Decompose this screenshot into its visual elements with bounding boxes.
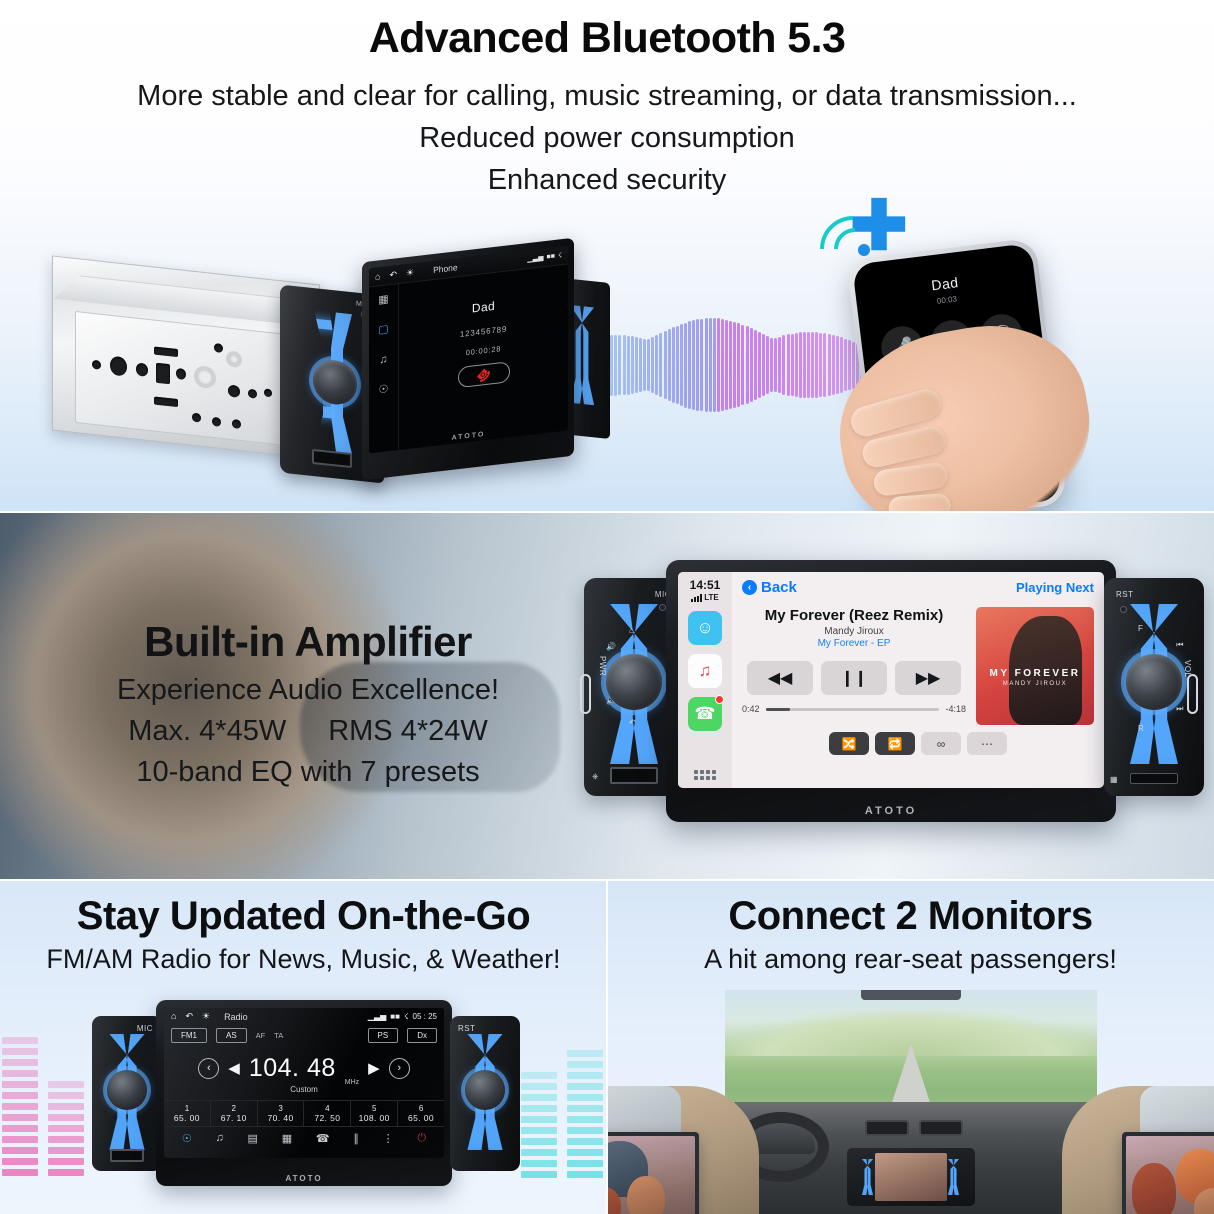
- f-label: F: [1138, 624, 1143, 633]
- waveform-bar: [631, 336, 634, 394]
- rst-label: RST: [458, 1024, 476, 1033]
- display-screen: ⌂ ↶ ☀ Phone ▁▃▅ ■■ ☇ ▦ ▢: [369, 245, 568, 453]
- home-icon[interactable]: ⌂: [171, 1012, 176, 1021]
- waveform-bar: [852, 342, 855, 389]
- battery-icon: ■■: [547, 252, 555, 260]
- equalizer-bars-left: [2, 1037, 84, 1176]
- usb-icon[interactable]: ▤: [248, 1132, 258, 1145]
- air-vent: [865, 1120, 909, 1136]
- monitor-screen: [1126, 1136, 1214, 1214]
- shuffle-button[interactable]: 🔀: [829, 732, 869, 755]
- prev-track-icon[interactable]: ⏮: [1176, 640, 1184, 650]
- track-content: My Forever (Reez Remix) Mandy Jiroux My …: [742, 607, 1094, 725]
- chassis-hole: [192, 413, 201, 423]
- sd-card-slot[interactable]: [1130, 773, 1178, 784]
- carplay-sidebar: 14:51 LTE ☺ ♫ ☎: [678, 572, 732, 788]
- tune-up-icon[interactable]: ▶: [368, 1059, 380, 1077]
- carplay-screen: 14:51 LTE ☺ ♫ ☎: [678, 572, 1104, 788]
- equalizer-segment: [2, 1147, 38, 1154]
- preset-button[interactable]: 370. 40: [258, 1101, 305, 1126]
- preset-number: 6: [398, 1104, 444, 1113]
- chassis-hole: [110, 356, 127, 377]
- waveform-bar: [823, 333, 826, 397]
- preset-frequency: 65. 00: [164, 1113, 210, 1123]
- equalizer-segment: [2, 1059, 38, 1066]
- back-button[interactable]: ‹ Back: [742, 579, 797, 596]
- amplifier-line-1: Experience Audio Excellence!: [48, 674, 568, 707]
- head-unit-radio: MIC ⌂ ↶ ☀ Radio ▁▃▅ ■■ ☇ 05 : 25: [78, 1000, 530, 1200]
- waveform-bar: [655, 335, 658, 395]
- chassis-hole: [228, 385, 240, 398]
- power-icon[interactable]: ⏻: [417, 1132, 426, 1145]
- equalizer-segment: [2, 1125, 38, 1132]
- signal-icon: ▁▃▅: [527, 253, 543, 263]
- rst-label: RST: [1116, 590, 1134, 599]
- waveform-bar: [782, 335, 785, 394]
- waveform-bar: [684, 323, 687, 408]
- waveform-bar: [676, 326, 679, 405]
- chassis-hole: [136, 363, 148, 377]
- equalizer-bars-right: [521, 1050, 603, 1178]
- mic-hole-icon: [659, 604, 666, 611]
- center-head-unit: [847, 1148, 975, 1206]
- waveform-bar: [618, 335, 621, 396]
- elapsed-time: 0:42: [742, 704, 760, 714]
- carplay-navbar: ‹ Back Playing Next: [742, 579, 1094, 596]
- waze-icon[interactable]: ☺: [688, 611, 722, 645]
- page-title: Advanced Bluetooth 5.3: [0, 14, 1214, 63]
- waveform-bar: [688, 321, 691, 409]
- front-seat-right: [1062, 1086, 1214, 1214]
- signal-icon: ▁▃▅: [368, 1012, 386, 1021]
- waveform-bar: [741, 325, 744, 406]
- playing-next-button[interactable]: Playing Next: [1016, 580, 1094, 595]
- chassis-slot: [156, 363, 170, 385]
- bluetooth-header: Advanced Bluetooth 5.3 More stable and c…: [0, 14, 1214, 201]
- radio-icon[interactable]: ☉: [182, 1132, 192, 1145]
- finger: [872, 461, 949, 497]
- character-figure: [1132, 1163, 1176, 1214]
- waveform-bar: [627, 336, 630, 395]
- volume-down-icon[interactable]: 🔈: [606, 696, 616, 705]
- waveform-bar: [803, 332, 806, 398]
- led-x-accent-icon: [947, 1159, 961, 1195]
- carplay-now-playing: ‹ Back Playing Next My Forever (Reez Rem…: [732, 572, 1104, 788]
- bluetooth-icon: ☇: [404, 1012, 409, 1021]
- waveform-bar: [709, 318, 712, 412]
- equalizer-column: [567, 1050, 603, 1178]
- pause-icon: ❙❙: [841, 668, 868, 688]
- equalizer-segment: [567, 1105, 603, 1112]
- waveform-bar: [787, 334, 790, 395]
- eq-icon[interactable]: ∥: [353, 1132, 359, 1145]
- radio-display[interactable]: ⌂ ↶ ☀ Radio ▁▃▅ ■■ ☇ 05 : 25 FM1 AS: [156, 1000, 452, 1186]
- waveform-bar: [750, 328, 753, 402]
- chassis-grommet: [194, 365, 216, 389]
- waveform-bar: [799, 332, 802, 397]
- chevron-left-icon: ‹: [742, 580, 757, 595]
- chassis-hole: [92, 360, 101, 370]
- bluetooth-subtitle: More stable and clear for calling, music…: [0, 75, 1214, 201]
- equalizer-column: [2, 1037, 38, 1176]
- preset-frequency: 70. 40: [258, 1113, 304, 1123]
- waveform-bar: [848, 340, 851, 390]
- sd-icon[interactable]: ▦: [282, 1132, 292, 1145]
- rear-seat-monitor: [1122, 1132, 1214, 1214]
- head-unit-display[interactable]: ⌂ ↶ ☀ Phone ▁▃▅ ■■ ☇ ▦ ▢: [362, 238, 574, 481]
- head-unit-right-control-panel: RST: [450, 1016, 520, 1171]
- volume-knob[interactable]: [313, 358, 357, 407]
- waveform-bar: [746, 326, 749, 403]
- waveform-bar: [610, 335, 613, 396]
- preset-button[interactable]: 665. 00: [398, 1101, 444, 1126]
- settings-icon[interactable]: ⋮: [383, 1132, 394, 1145]
- waveform-bar: [795, 333, 798, 397]
- waveform-bar: [651, 337, 654, 393]
- waveform-bar: [680, 324, 683, 406]
- music-icon[interactable]: ♫: [216, 1132, 224, 1144]
- album-artwork: MY FOREVER MANDY JIROUX: [976, 607, 1094, 725]
- phone-icon[interactable]: ☎: [688, 697, 722, 731]
- waveform-bar: [659, 333, 662, 397]
- product-feature-page: Advanced Bluetooth 5.3 More stable and c…: [0, 0, 1214, 1214]
- dx-button[interactable]: Dx: [407, 1028, 437, 1043]
- notification-badge: [715, 695, 724, 704]
- phone-icon[interactable]: ☎: [316, 1132, 330, 1145]
- sd-card-icon: ▦: [1110, 775, 1118, 784]
- volume-knob[interactable]: [107, 1070, 147, 1110]
- network-label: LTE: [704, 593, 719, 602]
- usb-port[interactable]: [110, 1149, 144, 1162]
- mic-icon[interactable]: ☉: [379, 384, 389, 396]
- reset-button[interactable]: [1120, 606, 1127, 613]
- carplay-clock: 14:51: [690, 578, 721, 592]
- back-label: Back: [761, 579, 797, 596]
- brand-logo: ATOTO: [666, 805, 1116, 817]
- air-vent: [919, 1120, 963, 1136]
- monitor-screen: [607, 1136, 695, 1214]
- equalizer-segment: [567, 1127, 603, 1134]
- r-label: R: [1138, 724, 1144, 733]
- radio-status-icons: ▁▃▅ ■■ ☇ 05 : 25: [368, 1012, 437, 1021]
- waveform-bar: [770, 338, 773, 392]
- equalizer-segment: [567, 1061, 603, 1068]
- rear-seat-monitor: [607, 1132, 699, 1214]
- usb-port-icon[interactable]: [312, 449, 352, 468]
- equalizer-segment: [567, 1083, 603, 1090]
- equalizer-segment: [567, 1171, 603, 1178]
- equalizer-segment: [2, 1092, 38, 1099]
- equalizer-segment: [567, 1149, 603, 1156]
- usb-icon: ⎈: [592, 772, 599, 782]
- end-call-button[interactable]: ☎: [458, 361, 510, 388]
- waveform-bar: [639, 338, 642, 392]
- preset-frequency: 65. 00: [398, 1113, 444, 1123]
- rewind-button[interactable]: ◀◀: [747, 661, 813, 695]
- signal-icon: [691, 594, 702, 602]
- panel-radio: Stay Updated On-the-Go FM/AM Radio for N…: [0, 880, 607, 1214]
- monitors-header: Connect 2 Monitors A hit among rear-seat…: [607, 880, 1214, 975]
- back-icon[interactable]: ↶: [629, 718, 636, 727]
- display-status-icons: ▁▃▅ ■■ ☇: [527, 251, 562, 263]
- head-unit-carplay: MIC ⌂ 🔊 PWR 🔈 ↶ ⎈ 14:51 LTE: [584, 560, 1204, 850]
- waveform-bar: [811, 332, 814, 398]
- home-icon[interactable]: ⌂: [375, 272, 380, 282]
- display-title: Phone: [433, 262, 458, 275]
- radio-screen-title: Radio: [224, 1012, 248, 1022]
- chassis-hole: [264, 388, 272, 397]
- preset-button[interactable]: 472. 50: [304, 1101, 351, 1126]
- tune-down-icon[interactable]: ◀: [228, 1059, 240, 1077]
- pwr-label: PWR: [598, 656, 607, 676]
- preset-bank-label: Custom: [164, 1085, 444, 1094]
- amplifier-title: Built-in Amplifier: [48, 618, 568, 666]
- equalizer-segment: [567, 1160, 603, 1167]
- radio-button-row: FM1 AS AF TA PS Dx: [164, 1025, 444, 1045]
- call-duration: 00:00:28: [466, 344, 502, 357]
- af-label[interactable]: AF: [256, 1031, 266, 1040]
- waveform-bar: [819, 333, 822, 398]
- back-icon[interactable]: ↶: [389, 270, 397, 280]
- waveform-bar: [668, 329, 671, 401]
- equalizer-segment: [567, 1116, 603, 1123]
- car-interior-scene: [607, 990, 1214, 1214]
- led-x-accent-icon: [861, 1159, 875, 1195]
- preset-number: 5: [351, 1104, 397, 1113]
- radio-source-tray: ☉ ♫ ▤ ▦ ☎ ∥ ⋮ ⏻: [164, 1127, 444, 1149]
- chassis-hole: [214, 343, 223, 353]
- equalizer-segment: [567, 1072, 603, 1079]
- amplifier-text-block: Built-in Amplifier Experience Audio Exce…: [48, 618, 568, 789]
- side-button[interactable]: [1187, 674, 1198, 714]
- preset-frequency: 108. 00: [351, 1113, 397, 1123]
- battery-icon: ■■: [390, 1012, 400, 1021]
- progress-row[interactable]: 0:42 -4:18: [742, 704, 966, 714]
- waveform-bar: [815, 332, 818, 398]
- waveform-bar: [672, 327, 675, 402]
- preset-number: 2: [211, 1104, 257, 1113]
- tuning-knob[interactable]: [465, 1070, 505, 1110]
- equalizer-segment: [567, 1050, 603, 1057]
- chassis-slot: [154, 347, 178, 358]
- chassis-hole: [212, 417, 221, 427]
- equalizer-segment: [2, 1158, 38, 1165]
- carplay-display[interactable]: 14:51 LTE ☺ ♫ ☎: [666, 560, 1116, 822]
- head-unit-left-control-panel: MIC: [92, 1016, 162, 1171]
- infinity-icon: ∞: [937, 737, 946, 751]
- waveform-bar: [737, 323, 740, 407]
- radio-title: Stay Updated On-the-Go: [0, 894, 607, 939]
- waveform-bar: [836, 336, 839, 394]
- equalizer-segment: [2, 1169, 38, 1176]
- center-head-unit-screen: [875, 1153, 947, 1201]
- fast-forward-icon: ▶▶: [916, 668, 941, 688]
- panel-bluetooth: Advanced Bluetooth 5.3 More stable and c…: [0, 0, 1214, 512]
- bluetooth-sub-line-3: Enhanced security: [0, 159, 1214, 201]
- equalizer-segment: [567, 1094, 603, 1101]
- equalizer-segment: [2, 1081, 38, 1088]
- auto-store-button[interactable]: AS: [216, 1028, 247, 1043]
- finger: [888, 493, 952, 512]
- waveform-bar: [664, 331, 667, 399]
- home-icon[interactable]: ⌂: [629, 626, 634, 635]
- tuning-knob[interactable]: [1126, 654, 1182, 710]
- waveform-bar: [713, 318, 716, 412]
- progress-fill: [766, 708, 790, 711]
- waveform-bar: [705, 318, 708, 412]
- phone-icon[interactable]: ▢: [378, 324, 388, 336]
- progress-bar[interactable]: [766, 708, 940, 711]
- chassis-hole: [248, 389, 257, 399]
- more-button[interactable]: ⋯: [967, 732, 1007, 755]
- waveform-bar: [832, 335, 835, 395]
- waveform-bar: [643, 339, 646, 391]
- waveform-bar: [758, 332, 761, 398]
- preset-number: 3: [258, 1104, 304, 1113]
- waveform-bar: [762, 334, 765, 396]
- radio-screen: ⌂ ↶ ☀ Radio ▁▃▅ ■■ ☇ 05 : 25 FM1 AS: [164, 1008, 444, 1158]
- chassis-grommet: [226, 350, 242, 368]
- equalizer-segment: [2, 1114, 38, 1121]
- bluetooth-sub-line-1: More stable and clear for calling, music…: [0, 75, 1214, 117]
- side-button[interactable]: [580, 674, 591, 714]
- amplifier-line-3: 10-band EQ with 7 presets: [48, 756, 568, 789]
- music-icon[interactable]: ♫: [379, 354, 387, 366]
- preset-button[interactable]: 5108. 00: [351, 1101, 398, 1126]
- preset-number: 1: [164, 1104, 210, 1113]
- waveform-bar: [754, 330, 757, 400]
- track-info: My Forever (Reez Remix) Mandy Jiroux My …: [742, 607, 966, 725]
- waveform-bar: [733, 322, 736, 408]
- brightness-icon[interactable]: ☀: [202, 1012, 210, 1021]
- secondary-controls: 🔀 🔁 ∞ ⋯: [742, 732, 1094, 755]
- waveform-bar: [647, 339, 650, 391]
- waveform-bar: [729, 321, 732, 410]
- waveform-bar: [700, 319, 703, 412]
- mic-label: MIC: [137, 1024, 153, 1033]
- waveform-bar: [692, 320, 695, 410]
- waveform-bar: [721, 319, 724, 411]
- band-button[interactable]: FM1: [171, 1028, 207, 1043]
- usb-port[interactable]: [610, 767, 658, 784]
- chassis-slot: [154, 397, 178, 408]
- radio-header: Stay Updated On-the-Go FM/AM Radio for N…: [0, 880, 607, 975]
- display-side-rail: ▦ ▢ ♫ ☉: [369, 284, 399, 453]
- waveform-bar: [791, 334, 794, 397]
- equalizer-segment: [2, 1070, 38, 1077]
- spec-rms-power: RMS 4*24W: [328, 715, 488, 748]
- bluetooth-sub-line-2: Reduced power consumption: [0, 117, 1214, 159]
- rewind-icon: ◀◀: [768, 668, 793, 688]
- pause-button[interactable]: ❙❙: [821, 661, 887, 695]
- monitors-title: Connect 2 Monitors: [607, 894, 1214, 939]
- preset-frequency: 67. 10: [211, 1113, 257, 1123]
- waveform-bar: [725, 320, 728, 411]
- panel-amplifier: Built-in Amplifier Experience Audio Exce…: [0, 512, 1214, 880]
- repeat-button[interactable]: 🔁: [875, 732, 915, 755]
- waveform-bar: [696, 319, 699, 410]
- caller-number: 123456789: [460, 324, 507, 338]
- panel-divider-vertical: [606, 880, 608, 1214]
- head-unit-right-control-panel: RST F ⏮ VOL ⏭ R ▦: [1104, 578, 1204, 796]
- playback-controls: ◀◀ ❙❙ ▶▶: [742, 661, 966, 695]
- chassis-hole: [176, 368, 186, 380]
- preset-button[interactable]: 267. 10: [211, 1101, 258, 1126]
- frequency-unit: MHz: [345, 1079, 359, 1086]
- remaining-time: -4:18: [945, 704, 966, 714]
- fast-forward-button[interactable]: ▶▶: [895, 661, 961, 695]
- preset-number: 4: [304, 1104, 350, 1113]
- back-icon[interactable]: ↶: [185, 1012, 193, 1021]
- head-unit-bluetooth: MIC ⌂ ↶ ☀ Phone ▁▃▅ ■■ ☇: [52, 232, 572, 504]
- waveform-bar: [774, 338, 777, 392]
- autoplay-button[interactable]: ∞: [921, 732, 961, 755]
- radio-subtitle: FM/AM Radio for News, Music, & Weather!: [0, 944, 607, 975]
- song-artist: Mandy Jiroux: [742, 626, 966, 637]
- ta-label[interactable]: TA: [274, 1031, 283, 1040]
- call-view: Dad 123456789 00:00:28 ☎: [399, 264, 568, 450]
- waveform-bar: [635, 337, 638, 393]
- song-album[interactable]: My Forever - EP: [742, 638, 966, 649]
- brightness-icon[interactable]: ☀: [406, 268, 414, 278]
- chassis-hole: [232, 419, 241, 429]
- app-grid-icon[interactable]: [694, 770, 716, 780]
- waveform-bar: [614, 335, 617, 396]
- next-track-icon[interactable]: ⏭: [1176, 704, 1184, 714]
- music-icon[interactable]: ♫: [688, 654, 722, 688]
- equalizer-segment: [2, 1136, 38, 1143]
- monitors-subtitle: A hit among rear-seat passengers!: [607, 944, 1214, 975]
- spec-max-power: Max. 4*45W: [128, 715, 286, 748]
- character-figure: [627, 1176, 665, 1214]
- panel-divider: [0, 511, 1214, 513]
- waveform-bar: [807, 332, 810, 398]
- waveform-bar: [717, 318, 720, 411]
- equalizer-segment: [2, 1037, 38, 1044]
- waveform-bar: [828, 334, 831, 396]
- rearview-mirror: [861, 990, 961, 1000]
- ps-button[interactable]: PS: [368, 1028, 399, 1043]
- radio-topbar: ⌂ ↶ ☀ Radio ▁▃▅ ■■ ☇ 05 : 25: [164, 1008, 444, 1025]
- preset-button[interactable]: 165. 00: [164, 1101, 211, 1126]
- apps-icon[interactable]: ▦: [378, 294, 388, 306]
- equalizer-segment: [2, 1048, 38, 1055]
- waveform-bar: [778, 337, 781, 394]
- seek-up-button[interactable]: ›: [389, 1058, 410, 1079]
- waveform-bar: [766, 336, 769, 394]
- album-art-artist: MANDY JIROUX: [976, 681, 1094, 687]
- preset-frequency: 72. 50: [304, 1113, 350, 1123]
- volume-up-icon[interactable]: 🔊: [606, 642, 616, 651]
- waveform-bar: [623, 335, 626, 395]
- waveform-bar: [844, 339, 847, 392]
- waveform-bar: [840, 337, 843, 393]
- seek-down-button[interactable]: ‹: [198, 1058, 219, 1079]
- phone-handset-icon: ☎: [473, 364, 493, 385]
- more-icon: ⋯: [981, 737, 993, 751]
- carplay-network-status: LTE: [691, 593, 719, 602]
- equalizer-segment: [2, 1103, 38, 1110]
- clock: 05 : 25: [413, 1012, 437, 1021]
- frequency-value: 104. 48: [249, 1054, 336, 1083]
- panel-monitors: Connect 2 Monitors A hit among rear-seat…: [607, 880, 1214, 1214]
- brand-logo: ATOTO: [156, 1174, 452, 1183]
- caller-name: Dad: [472, 299, 495, 316]
- amplifier-specs-row: Max. 4*45W RMS 4*24W: [48, 715, 568, 748]
- shuffle-icon: 🔀: [842, 737, 857, 751]
- album-art-title: MY FOREVER: [976, 668, 1094, 679]
- preset-list: 165. 00267. 10370. 40472. 505108. 00665.…: [164, 1100, 444, 1127]
